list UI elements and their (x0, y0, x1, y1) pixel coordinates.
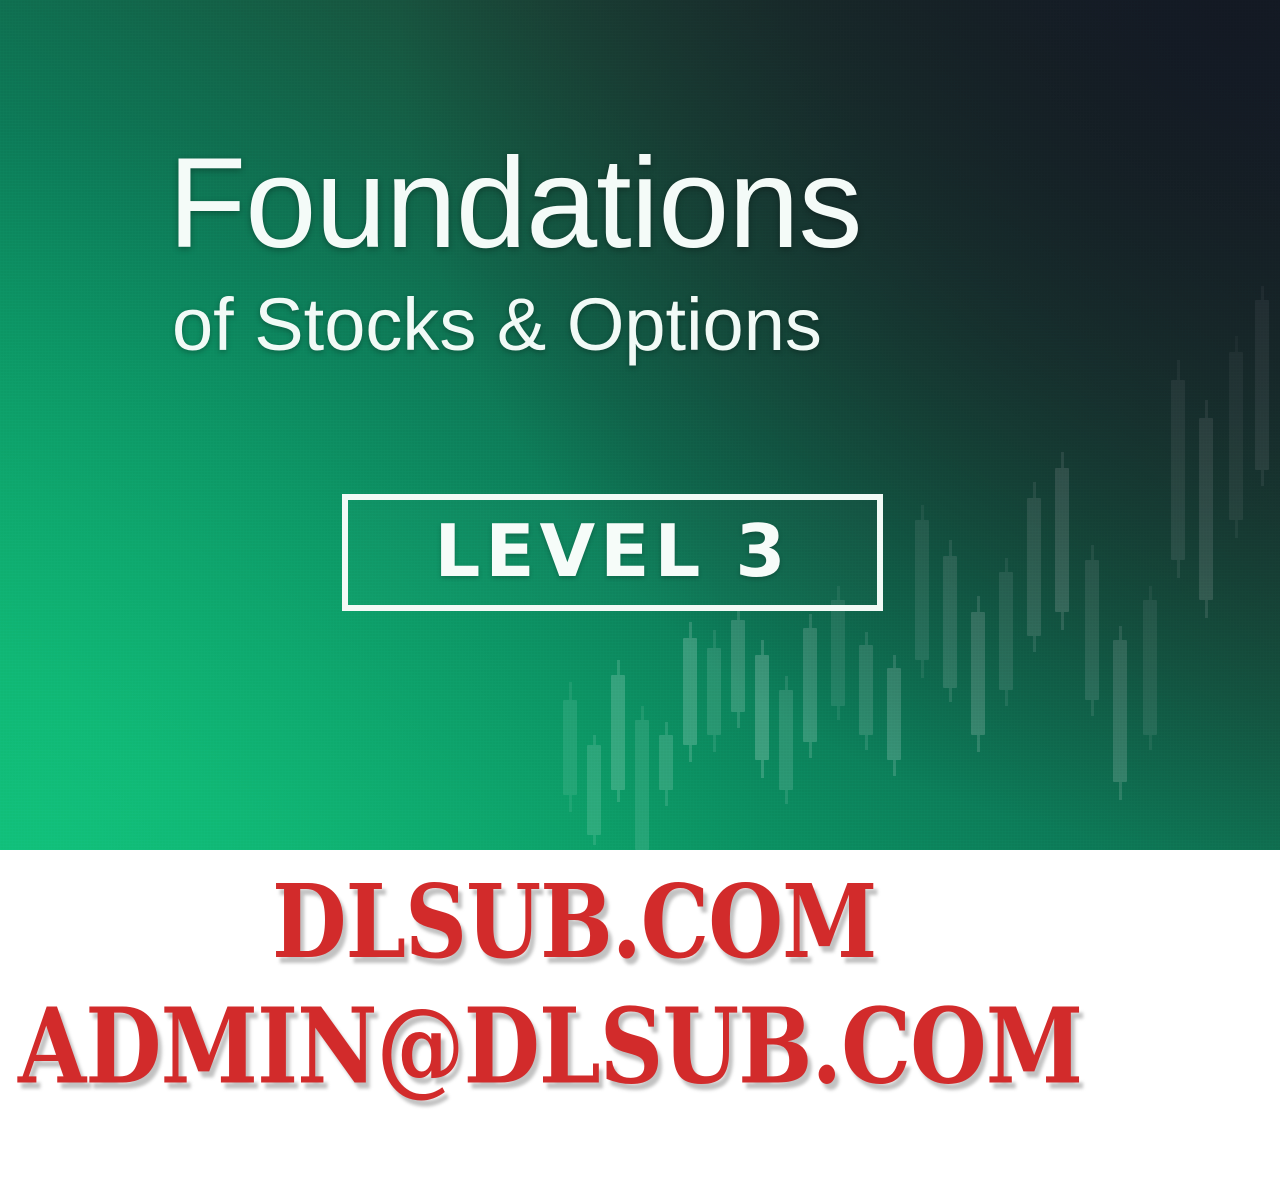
course-title: Foundations (168, 140, 1168, 268)
level-badge-label: LEVEL 3 (434, 515, 790, 587)
watermark-contact-email: ADMIN@DLSUB.COM (18, 994, 1082, 1098)
course-subtitle: of Stocks & Options (172, 288, 1232, 362)
watermark-site-url: DLSUB.COM (272, 872, 876, 973)
course-banner-page: Foundations of Stocks & Options LEVEL 3 … (0, 0, 1280, 1188)
hero-banner: Foundations of Stocks & Options LEVEL 3 (0, 0, 1280, 850)
level-badge: LEVEL 3 (342, 494, 883, 611)
watermark-strip: DLSUB.COM ADMIN@DLSUB.COM (0, 850, 1280, 1188)
title-block: Foundations of Stocks & Options LEVEL 3 (0, 0, 1280, 850)
level-badge-inner-frame: LEVEL 3 (348, 500, 877, 605)
